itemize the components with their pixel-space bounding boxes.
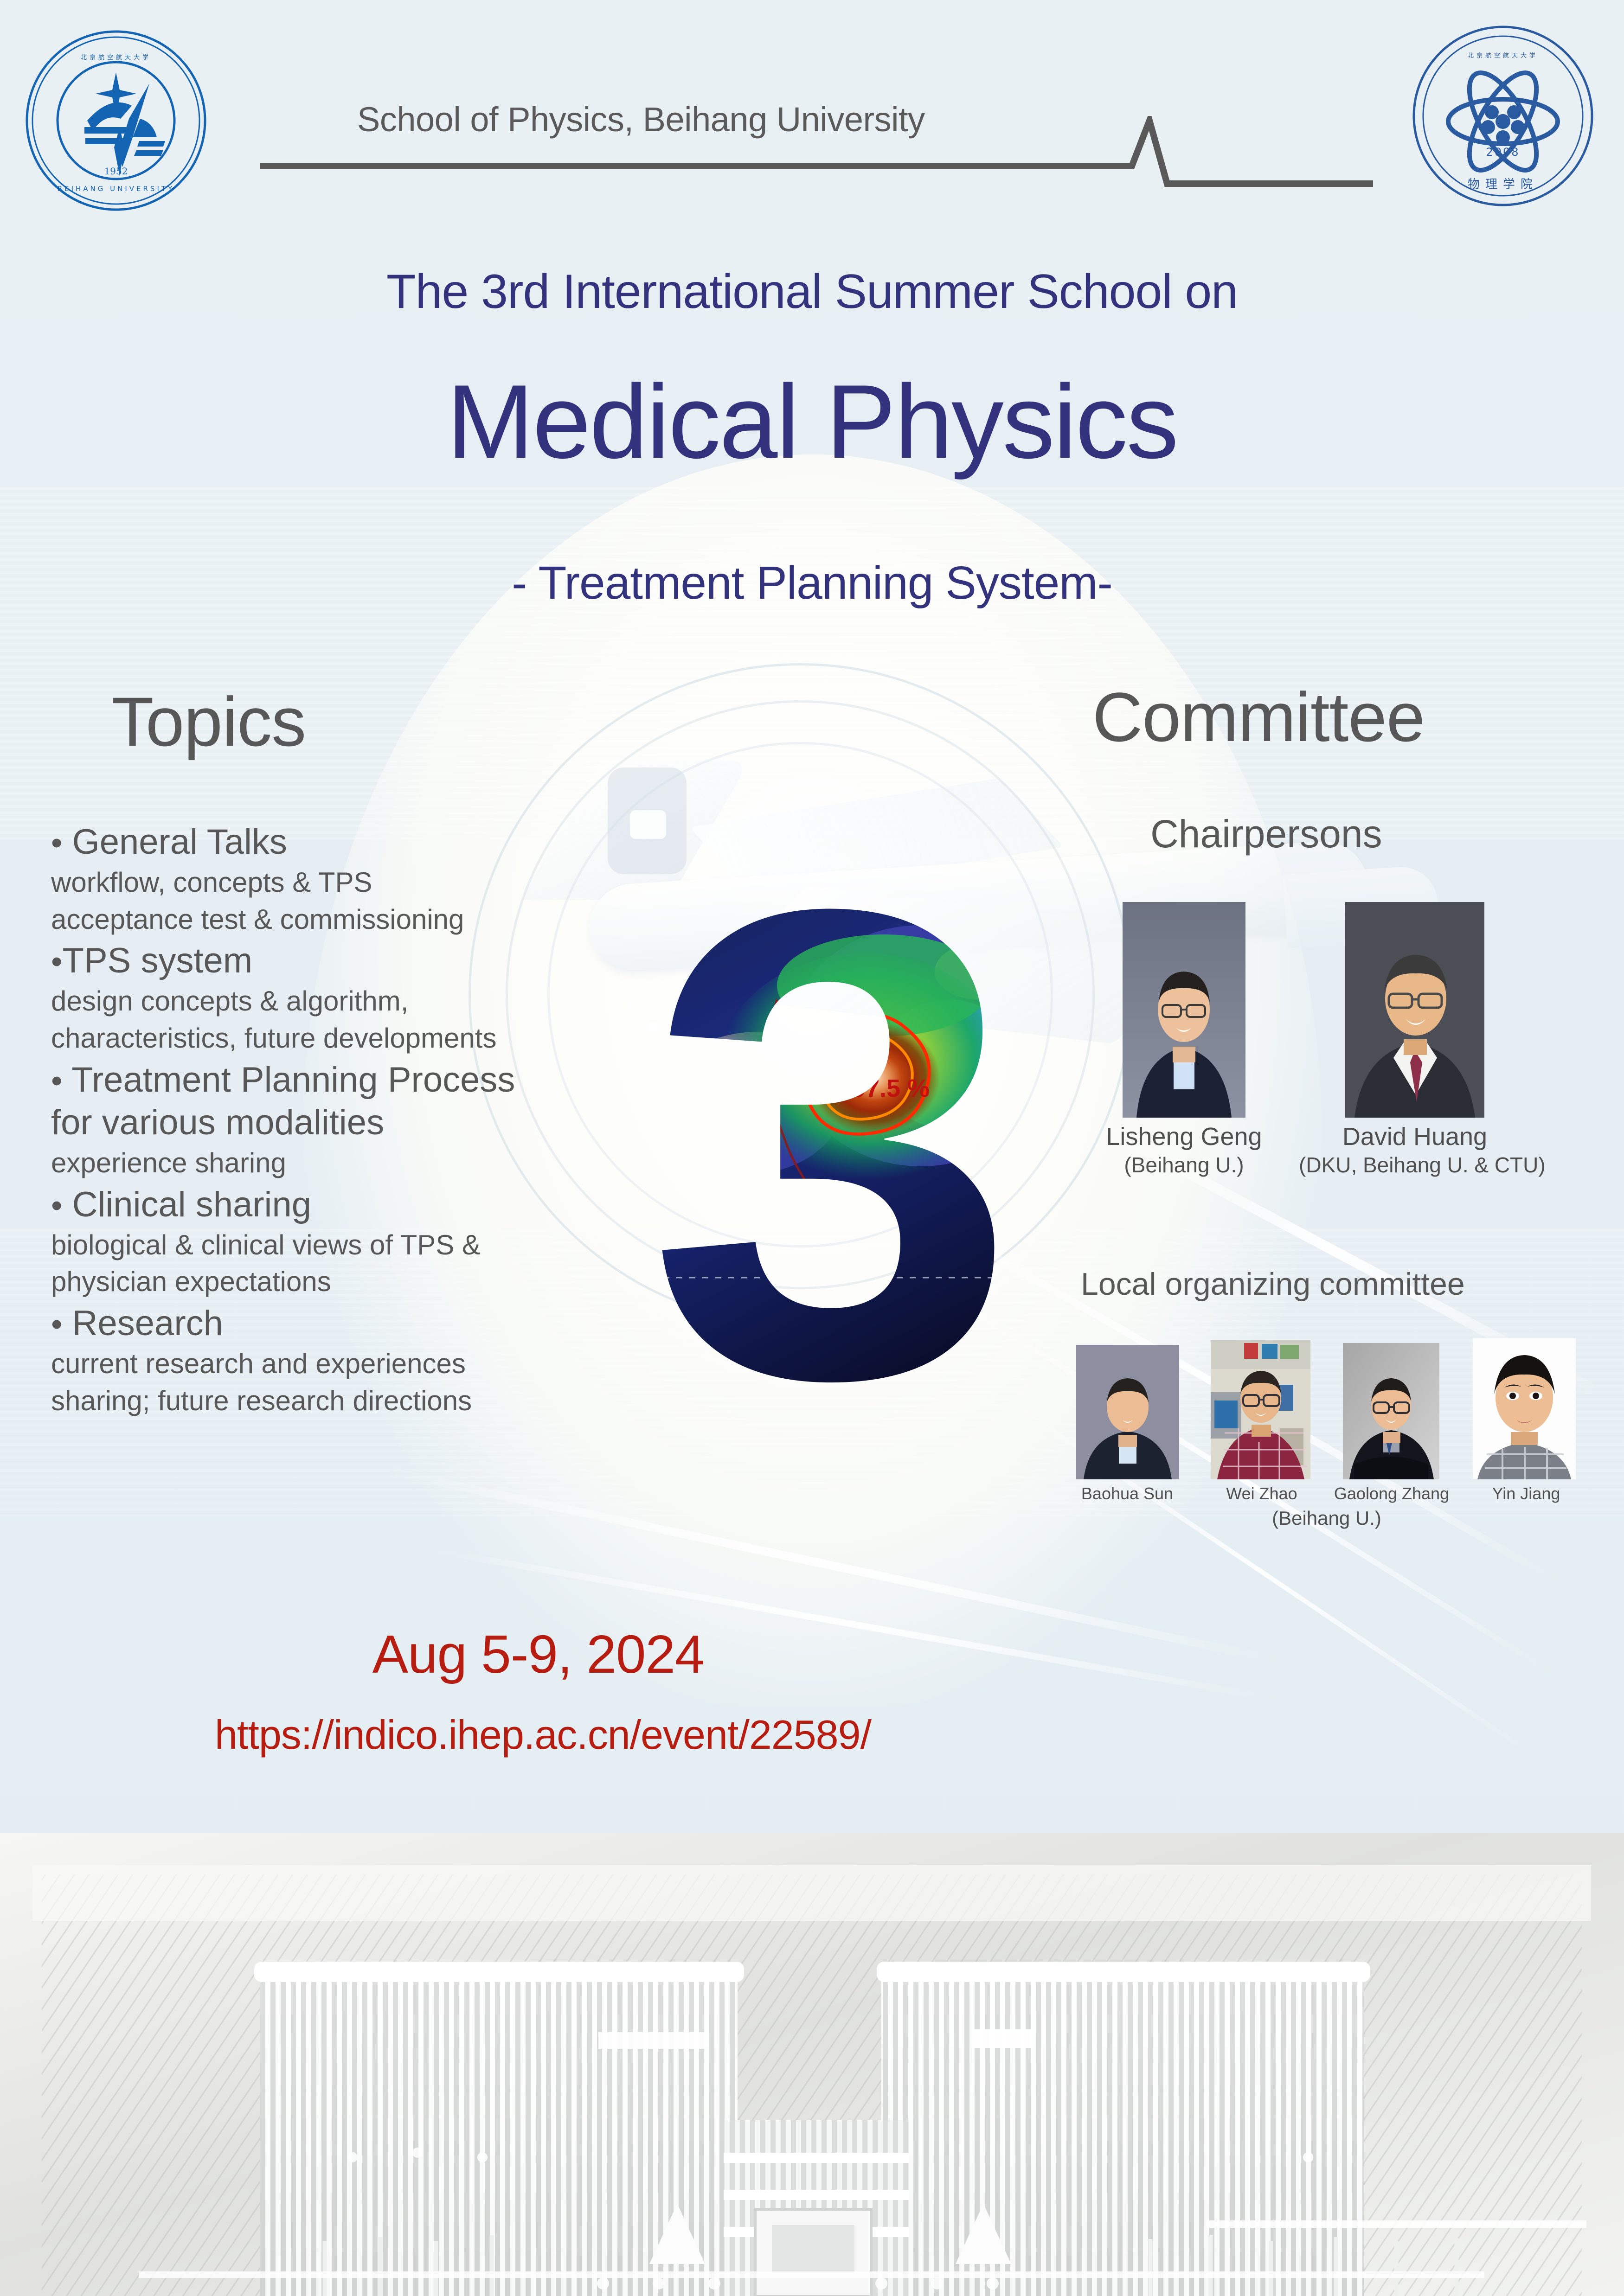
topic-item-general-talks: • General Talks workflow, concepts & TPS… [51,821,700,938]
svg-text:北京航空航天大学: 北京航空航天大学 [81,54,151,61]
title-line-1: The 3rd International Summer School on [0,264,1624,320]
avatar [1123,902,1245,1118]
bullet-icon: • [51,825,63,861]
topics-list: • General Talks workflow, concepts & TPS… [51,821,700,1421]
topic-desc-line: current research and experiences [51,1345,700,1382]
avatar [1211,1340,1310,1479]
svg-text:北京航空航天大学: 北京航空航天大学 [1468,52,1538,59]
topic-title-second-line: for various modalities [51,1101,700,1145]
poster-root: 北京航空航天大学 BEIHANG UNIVERSITY 1952 [0,0,1624,2296]
avatar [1345,902,1484,1118]
topic-title: Research [72,1304,223,1343]
topics-heading: Topics [111,682,306,762]
local-member-name: Yin Jiang [1457,1484,1596,1503]
topic-title: Treatment Planning Process [71,1060,515,1100]
topic-desc-line: biological & clinical views of TPS & [51,1227,700,1264]
local-committee-heading: Local organizing committee [1081,1266,1465,1302]
beihang-university-logo: 北京航空航天大学 BEIHANG UNIVERSITY 1952 [23,28,209,213]
avatar [1473,1338,1576,1479]
topic-desc-line: workflow, concepts & TPS [51,864,700,901]
svg-text:BEIHANG UNIVERSITY: BEIHANG UNIVERSITY [58,185,174,193]
avatar [1076,1345,1179,1479]
dose-label: 97.5 % [852,1074,930,1102]
local-member-name: Gaolong Zhang [1322,1484,1461,1503]
chairperson-name: David Huang [1338,1122,1491,1151]
chairperson-affiliation: (DKU, Beihang U. & CTU) [1299,1152,1531,1177]
local-member-name: Baohua Sun [1058,1484,1197,1503]
bullet-icon: • [51,943,63,979]
affiliation-title: School of Physics, Beihang University [357,100,925,139]
chairpersons-row: Lisheng Geng (Beihang U.) David Huang (D… [1104,902,1521,1199]
svg-text:1952: 1952 [104,166,128,177]
event-date: Aug 5-9, 2024 [0,1623,1624,1685]
local-committee-affiliation: (Beihang U.) [1188,1507,1466,1529]
svg-text:物理学院: 物理学院 [1468,178,1538,192]
topic-item-tps-system: •TPS system design concepts & algorithm,… [51,940,700,1056]
topic-title: TPS system [63,941,253,980]
topic-item-treatment-planning-process: • Treatment Planning Process for various… [51,1059,700,1182]
poster-header: 北京航空航天大学 BEIHANG UNIVERSITY 1952 [0,0,1624,218]
title-subtitle: - Treatment Planning System- [0,556,1624,610]
chairperson-affiliation: (Beihang U.) [1104,1152,1264,1177]
topic-desc-line: experience sharing [51,1145,700,1182]
school-of-physics-logo: 2008 北京航空航天大学 物理学院 [1410,23,1596,209]
committee-heading: Committee [1092,677,1425,757]
topic-item-clinical-sharing: • Clinical sharing biological & clinical… [51,1183,700,1300]
topic-desc-line: sharing; future research directions [51,1382,700,1420]
topic-desc-line: characteristics, future developments [51,1020,700,1057]
bullet-icon: • [51,1306,63,1342]
topic-desc-line: design concepts & algorithm, [51,983,700,1020]
chairpersons-heading: Chairpersons [1150,812,1382,857]
local-committee-row: Baohua Sun [1058,1336,1605,1503]
bullet-icon: • [51,1187,63,1223]
topic-title: General Talks [72,822,287,862]
chairperson-name: Lisheng Geng [1104,1122,1264,1151]
local-member-name: Wei Zhao [1197,1484,1327,1503]
event-url[interactable]: https://indico.ihep.ac.cn/event/22589/ [0,1711,1624,1759]
page-title: Medical Physics [0,366,1624,476]
topic-desc-line: acceptance test & commissioning [51,901,700,938]
bullet-icon: • [51,1062,63,1099]
topic-desc-line: physician expectations [51,1263,700,1300]
svg-text:2008: 2008 [1486,146,1520,159]
beihang-main-building-sketch [0,1833,1624,2296]
topic-title: Clinical sharing [72,1185,311,1224]
topic-item-research: • Research current research and experien… [51,1302,700,1419]
avatar [1343,1343,1439,1479]
